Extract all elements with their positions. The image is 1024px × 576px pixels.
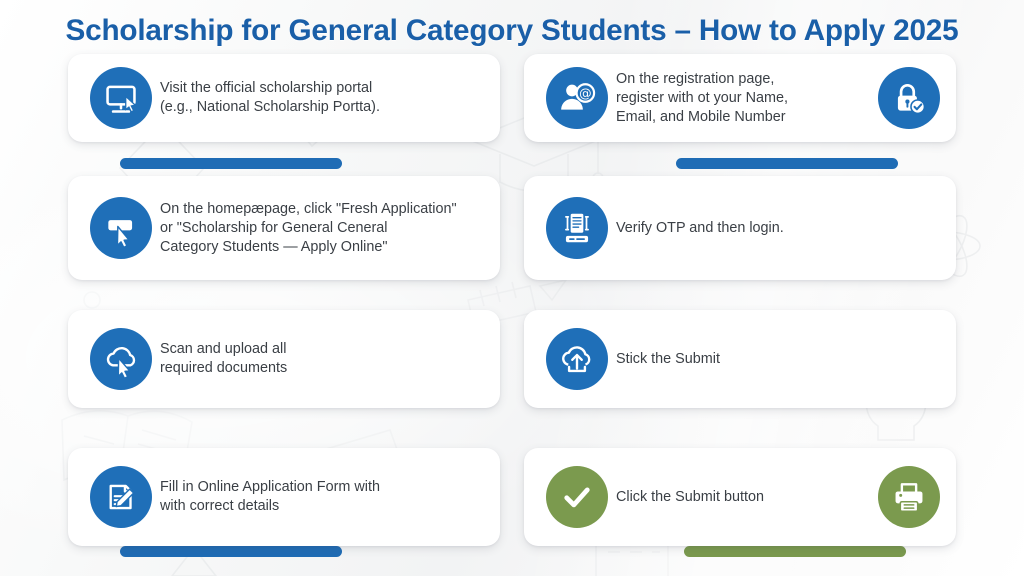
- step-8-line-1: Click the Submit button: [616, 488, 870, 507]
- check-circle-icon: [546, 466, 608, 528]
- step-card-6[interactable]: Stick the Submit: [524, 310, 956, 408]
- step-8-icon-slot-right: [878, 466, 940, 528]
- monitor-cursor-icon: [90, 67, 152, 129]
- step-5-text: Scan and upload all required documents: [152, 340, 500, 378]
- printer-icon: [878, 466, 940, 528]
- step-card-4[interactable]: Verify OTP and then login.: [524, 176, 956, 280]
- step-2-line-1: On the registration page,: [616, 70, 870, 89]
- user-email-icon: @: [546, 67, 608, 129]
- form-pencil-icon: [90, 466, 152, 528]
- step-2-text: On the registration page, register with …: [608, 70, 878, 127]
- step-7-icon-slot: [90, 466, 152, 528]
- step-1-icon-slot: [90, 67, 152, 129]
- step-card-1[interactable]: Visit the official scholarship portal (e…: [68, 54, 500, 142]
- step-1-line-1: Visit the official scholarship portal: [160, 79, 492, 98]
- svg-text:@: @: [579, 86, 592, 101]
- lock-check-icon: [878, 67, 940, 129]
- step-5-line-2: required documents: [160, 359, 492, 378]
- step-2-line-2: register with ot your Name,: [616, 89, 870, 108]
- step-5-icon-slot: [90, 328, 152, 390]
- step-card-5[interactable]: Scan and upload all required documents: [68, 310, 500, 408]
- step-3-text: On the homepæpage, click "Fresh Applicat…: [152, 200, 500, 257]
- step-2-icon-slot-right: [878, 67, 940, 129]
- step-2-icon-slot-left: @: [546, 67, 608, 129]
- step-card-7[interactable]: Fill in Online Application Form with wit…: [68, 448, 500, 546]
- step-8-text: Click the Submit button: [608, 488, 878, 507]
- step-5-line-1: Scan and upload all: [160, 340, 492, 359]
- step-3-line-3: Category Students — Apply Online": [160, 238, 492, 257]
- step-7-text: Fill in Online Application Form with wit…: [152, 478, 500, 516]
- step-6-text: Stick the Submit: [608, 350, 956, 369]
- step-card-2[interactable]: @ On the registration page, register wit…: [524, 54, 956, 142]
- step-1-line-2: (e.g., National Scholarship Portta).: [160, 98, 492, 117]
- cloud-upload-icon: [546, 328, 608, 390]
- infographic-canvas: Scholarship for General Category Student…: [0, 0, 1024, 576]
- accent-bar-under-step-8: [684, 546, 906, 557]
- step-4-text: Verify OTP and then login.: [608, 219, 956, 238]
- step-8-icon-slot-left: [546, 466, 608, 528]
- step-2-line-3: Email, and Mobile Number: [616, 108, 870, 127]
- step-4-icon-slot: [546, 197, 608, 259]
- step-6-line-1: Stick the Submit: [616, 350, 948, 369]
- accent-bar-under-step-1: [120, 158, 342, 169]
- cloud-cursor-icon: [90, 328, 152, 390]
- step-3-icon-slot: [90, 197, 152, 259]
- step-card-3[interactable]: On the homepæpage, click "Fresh Applicat…: [68, 176, 500, 280]
- step-4-line-1: Verify OTP and then login.: [616, 219, 948, 238]
- page-title: Scholarship for General Category Student…: [5, 14, 1019, 48]
- step-1-text: Visit the official scholarship portal (e…: [152, 79, 500, 117]
- step-7-line-2: with correct details: [160, 497, 492, 516]
- click-button-cursor-icon: [90, 197, 152, 259]
- step-6-icon-slot: [546, 328, 608, 390]
- accent-bar-under-step-7: [120, 546, 342, 557]
- step-card-8[interactable]: Click the Submit button: [524, 448, 956, 546]
- step-3-line-1: On the homepæpage, click "Fresh Applicat…: [160, 200, 492, 219]
- step-3-line-2: or "Scholarship for General Ceneral: [160, 219, 492, 238]
- otp-device-icon: [546, 197, 608, 259]
- accent-bar-under-step-2: [676, 158, 898, 169]
- step-7-line-1: Fill in Online Application Form with: [160, 478, 492, 497]
